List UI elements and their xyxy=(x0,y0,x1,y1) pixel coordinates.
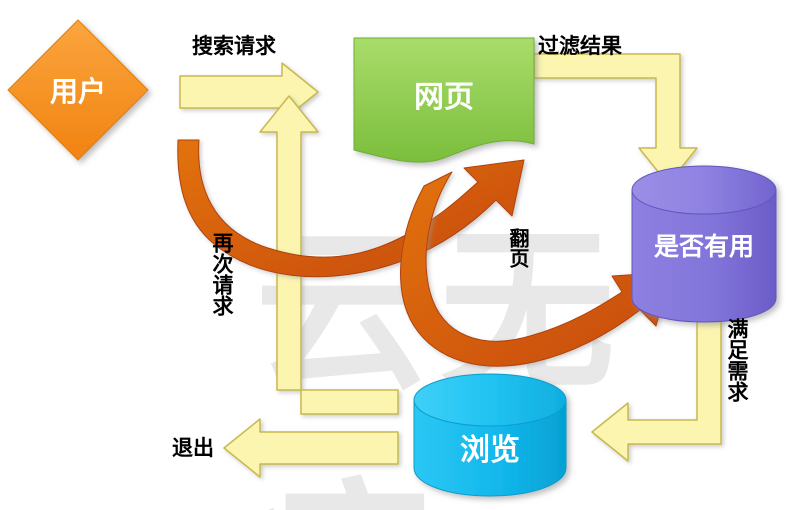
edge-exit-arrow xyxy=(224,419,398,477)
node-useful-shape[interactable] xyxy=(632,166,776,322)
node-webpage-shape[interactable] xyxy=(354,38,534,162)
edge-filter-result-arrow xyxy=(534,54,697,184)
diagram-shapes-layer xyxy=(0,0,800,510)
diagram-canvas: 云无痕 xyxy=(0,0,800,510)
node-browse-shape[interactable] xyxy=(414,374,566,496)
edge-request-again-label: 再次请求 xyxy=(211,232,232,372)
edge-search-request-label: 搜索请求 xyxy=(192,30,276,60)
node-user-shape[interactable] xyxy=(8,20,148,160)
edge-meet-need-label: 满足需求 xyxy=(726,318,747,402)
edge-page-turn-label: 翻页 xyxy=(508,228,528,288)
edge-exit-label: 退出 xyxy=(172,432,214,462)
edge-filter-result-label: 过滤结果 xyxy=(538,30,622,60)
